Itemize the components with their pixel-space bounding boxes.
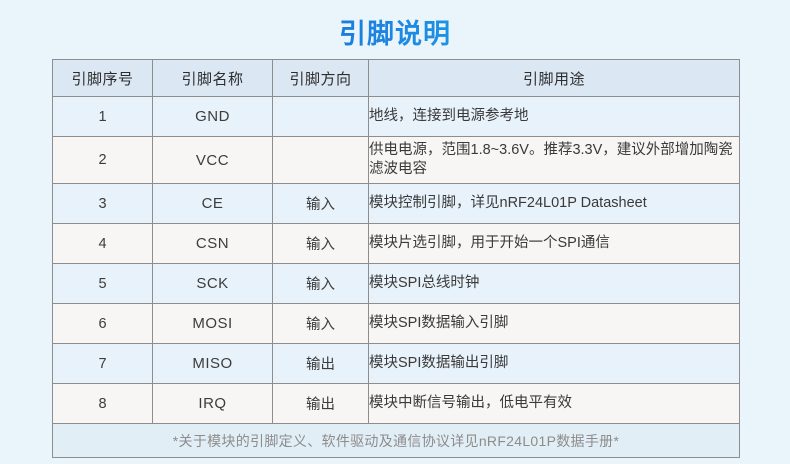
cell-pin-usage: 模块中断信号输出，低电平有效 bbox=[369, 384, 740, 424]
cell-pin-direction bbox=[273, 137, 369, 184]
cell-pin-number: 3 bbox=[53, 184, 153, 224]
cell-pin-name: IRQ bbox=[153, 384, 273, 424]
cell-pin-name: VCC bbox=[153, 137, 273, 184]
cell-pin-number: 1 bbox=[53, 97, 153, 137]
cell-pin-number: 4 bbox=[53, 224, 153, 264]
cell-pin-name: MISO bbox=[153, 344, 273, 384]
cell-pin-name: GND bbox=[153, 97, 273, 137]
table-body: 1 GND 地线，连接到电源参考地 2 VCC 供电电源，范围1.8~3.6V。… bbox=[53, 97, 740, 424]
cell-pin-number: 5 bbox=[53, 264, 153, 304]
column-header-pin-name: 引脚名称 bbox=[153, 60, 273, 97]
table-row: 6 MOSI 输入 模块SPI数据输入引脚 bbox=[53, 304, 740, 344]
cell-pin-name: MOSI bbox=[153, 304, 273, 344]
cell-pin-direction: 输入 bbox=[273, 304, 369, 344]
pin-table-container: 引脚序号 引脚名称 引脚方向 引脚用途 1 GND 地线，连接到电源参考地 2 … bbox=[52, 59, 739, 458]
cell-pin-direction bbox=[273, 97, 369, 137]
footer-row: *关于模块的引脚定义、软件驱动及通信协议详见nRF24L01P数据手册* bbox=[53, 424, 740, 458]
cell-pin-number: 8 bbox=[53, 384, 153, 424]
table-row: 1 GND 地线，连接到电源参考地 bbox=[53, 97, 740, 137]
table-row: 4 CSN 输入 模块片选引脚，用于开始一个SPI通信 bbox=[53, 224, 740, 264]
column-header-pin-usage: 引脚用途 bbox=[369, 60, 740, 97]
cell-pin-name: CSN bbox=[153, 224, 273, 264]
page-title: 引脚说明 bbox=[0, 12, 790, 51]
pin-description-table: 引脚序号 引脚名称 引脚方向 引脚用途 1 GND 地线，连接到电源参考地 2 … bbox=[52, 59, 740, 458]
table-row: 8 IRQ 输出 模块中断信号输出，低电平有效 bbox=[53, 384, 740, 424]
cell-pin-usage: 模块SPI数据输入引脚 bbox=[369, 304, 740, 344]
table-row: 3 CE 输入 模块控制引脚，详见nRF24L01P Datasheet bbox=[53, 184, 740, 224]
table-row: 2 VCC 供电电源，范围1.8~3.6V。推荐3.3V，建议外部增加陶瓷滤波电… bbox=[53, 137, 740, 184]
cell-pin-direction: 输入 bbox=[273, 184, 369, 224]
column-header-pin-number: 引脚序号 bbox=[53, 60, 153, 97]
cell-pin-number: 7 bbox=[53, 344, 153, 384]
table-row: 7 MISO 输出 模块SPI数据输出引脚 bbox=[53, 344, 740, 384]
cell-pin-usage: 模块SPI总线时钟 bbox=[369, 264, 740, 304]
column-header-pin-direction: 引脚方向 bbox=[273, 60, 369, 97]
cell-pin-direction: 输入 bbox=[273, 224, 369, 264]
cell-pin-name: CE bbox=[153, 184, 273, 224]
table-header: 引脚序号 引脚名称 引脚方向 引脚用途 bbox=[53, 60, 740, 97]
cell-pin-number: 6 bbox=[53, 304, 153, 344]
cell-pin-number: 2 bbox=[53, 137, 153, 184]
cell-pin-direction: 输出 bbox=[273, 384, 369, 424]
cell-pin-usage: 地线，连接到电源参考地 bbox=[369, 97, 740, 137]
cell-pin-usage: 模块控制引脚，详见nRF24L01P Datasheet bbox=[369, 184, 740, 224]
table-row: 5 SCK 输入 模块SPI总线时钟 bbox=[53, 264, 740, 304]
footer-note: *关于模块的引脚定义、软件驱动及通信协议详见nRF24L01P数据手册* bbox=[53, 424, 740, 458]
cell-pin-direction: 输出 bbox=[273, 344, 369, 384]
header-row: 引脚序号 引脚名称 引脚方向 引脚用途 bbox=[53, 60, 740, 97]
cell-pin-usage: 模块片选引脚，用于开始一个SPI通信 bbox=[369, 224, 740, 264]
cell-pin-usage: 供电电源，范围1.8~3.6V。推荐3.3V，建议外部增加陶瓷滤波电容 bbox=[369, 137, 740, 184]
pin-description-page: 引脚说明 引脚序号 引脚名称 引脚方向 引脚用途 1 GND 地线，连接到电源 bbox=[0, 0, 790, 464]
table-footer: *关于模块的引脚定义、软件驱动及通信协议详见nRF24L01P数据手册* bbox=[53, 424, 740, 458]
cell-pin-usage: 模块SPI数据输出引脚 bbox=[369, 344, 740, 384]
cell-pin-direction: 输入 bbox=[273, 264, 369, 304]
cell-pin-name: SCK bbox=[153, 264, 273, 304]
